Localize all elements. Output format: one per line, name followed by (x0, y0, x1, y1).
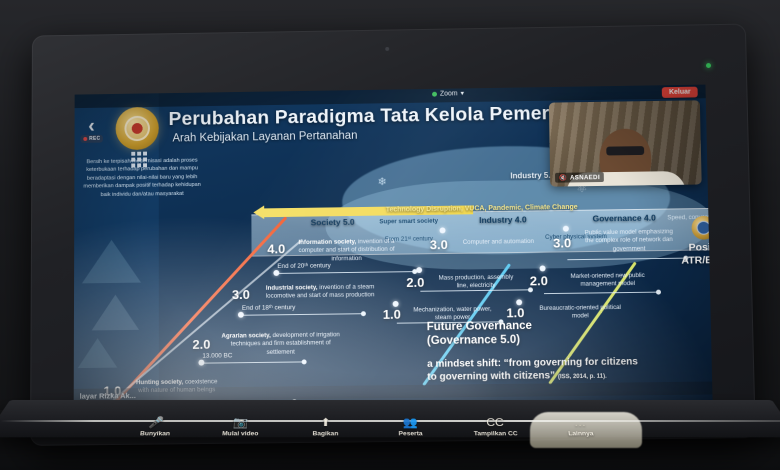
governance-tick-2 (544, 292, 658, 294)
zoom-status-icon (432, 91, 437, 96)
future-governance-body: a mindset shift: “from governing for cit… (427, 355, 678, 384)
participant-name-badge: 🔇 ASNAEDI (555, 172, 604, 183)
participant-glasses (606, 146, 644, 155)
laptop-screen: ‹ REC Perubahan Paradigma Tata Kelola Pe… (74, 85, 713, 418)
industry-value-3: 3.0 (430, 237, 448, 252)
industry5-label: Industry 5.0 (510, 171, 555, 180)
more-options-icon: … (540, 415, 620, 429)
future-governance-citation: (ISS, 2014, p. 11). (558, 373, 607, 380)
industry40-label: Industry 4.0 (479, 214, 527, 224)
posisi-line2: ATR/BPN (669, 254, 713, 268)
toolbar-label-video: Mulai video (201, 431, 280, 438)
leave-meeting-button[interactable]: Keluar (662, 87, 698, 98)
toolbar-label-share: Bagikan (286, 431, 365, 438)
future-governance-body-1: a mindset shift: “from governing for cit… (427, 356, 638, 369)
governance-node-2 (540, 265, 546, 271)
future-governance-body-2: to governing with citizens” (427, 370, 555, 382)
society-node-2 (198, 360, 204, 366)
closed-caption-icon: CC (456, 415, 535, 429)
zoom-label: Zoom (440, 90, 458, 97)
toolbar-label-captions: Tampilkan CC (456, 431, 535, 438)
industry-desc-3: Computer and automation (462, 238, 536, 247)
recording-label: REC (89, 136, 100, 142)
recording-badge: REC (80, 135, 103, 143)
industry-desc-2: Mass production, assembly line, electric… (436, 274, 516, 292)
industry-node-1 (393, 301, 399, 307)
industry-tick-2 (420, 289, 530, 291)
decor-triangle (92, 294, 139, 330)
webcam-dot-icon (385, 47, 389, 51)
microphone-muted-icon: 🎤 (116, 415, 196, 429)
laptop: ‹ REC Perubahan Paradigma Tata Kelola Pe… (30, 24, 756, 446)
society-desc-4: Information society, invention of a comp… (297, 238, 396, 264)
society-node-3 (238, 312, 244, 318)
society-title-1: Hunting society, (136, 379, 183, 386)
society-tick-3 (240, 313, 363, 316)
toolbar-button-share[interactable]: ⬆ Bagikan (286, 415, 365, 437)
society-era-3: End of 18ᵗʰ century (242, 304, 295, 312)
toolbar-button-mute[interactable]: 🎤 Bunyikan (115, 415, 196, 437)
society-title-4: Information society, (298, 238, 356, 246)
society-tick-4 (275, 271, 414, 274)
slide-intro-paragraph: Bersih ke terpisah/modernisasi adalah pr… (80, 157, 204, 200)
participant-video-tile[interactable]: 🔇 ASNAEDI (549, 100, 702, 186)
toolbar-label-more: Lainnya (541, 431, 620, 438)
governance-node-3 (563, 226, 569, 232)
toolbar-button-more[interactable]: … Lainnya (540, 415, 621, 437)
governance-value-2: 2.0 (530, 273, 548, 288)
snowflake-icon: ❄ (378, 175, 387, 188)
zoom-menu[interactable]: Zoom ▾ (432, 89, 464, 97)
governance-value-3: 3.0 (553, 236, 571, 251)
society-value-4: 4.0 (267, 241, 285, 256)
industry-node-2 (416, 267, 422, 273)
toolbar-button-video[interactable]: 📷 Mulai video (201, 415, 281, 437)
photo-scene: ‹ REC Perubahan Paradigma Tata Kelola Pe… (0, 0, 780, 470)
zoom-meeting-toolbar[interactable]: 🎤 Bunyikan 📷 Mulai video ⬆ Bagikan 👥 Pes… (113, 415, 622, 452)
industry-node-3 (440, 227, 446, 233)
society5-caption: Super smart society (366, 218, 451, 227)
future-governance-block: Future Governance (Governance 5.0) a min… (427, 317, 678, 383)
society-tick-2 (200, 361, 303, 363)
society-era-4: End of 20ᵗʰ century (277, 262, 330, 270)
participants-icon: 👥 (371, 415, 450, 429)
chevron-down-icon: ▾ (461, 89, 465, 97)
toolbar-button-participants[interactable]: 👥 Peserta (371, 415, 450, 437)
governance-node-1 (516, 299, 522, 305)
society-desc-2: Agrarian society, development of irrigat… (220, 331, 341, 357)
industry-value-2: 2.0 (406, 275, 424, 290)
participant-name-label: ASNAEDI (570, 174, 600, 181)
camera-icon: 📷 (201, 415, 280, 429)
decor-triangle (82, 239, 141, 283)
society-title-3: Industrial society, (266, 284, 318, 292)
society-title-2: Agrarian society, (222, 332, 271, 340)
toolbar-button-captions[interactable]: CC Tampilkan CC (456, 415, 536, 437)
society-desc-3: Industrial society, invention of a steam… (262, 283, 379, 301)
mic-muted-icon: 🔇 (559, 174, 567, 182)
society5-label: Society 5.0 (311, 217, 355, 227)
share-screen-icon: ⬆ (286, 415, 365, 429)
power-indicator-icon (706, 63, 711, 68)
society-node-4 (273, 270, 279, 276)
governance-desc-3: Public value model emphasizing the compl… (583, 228, 675, 254)
toolbar-label-mute: Bunyikan (115, 431, 194, 438)
society-value-2: 2.0 (192, 337, 210, 352)
governance-value-1: 1.0 (506, 305, 524, 320)
slide-subtitle: Arah Kebijakan Layanan Pertanahan (172, 130, 357, 144)
posisi-block: Posisi ATR/BPN (668, 215, 712, 268)
society-value-3: 3.0 (232, 287, 250, 302)
society-era-2: 13.000 BC (202, 352, 232, 359)
decor-triangle (78, 338, 118, 368)
governance40-label: Governance 4.0 (593, 213, 656, 224)
record-dot-icon (83, 137, 87, 141)
governance-desc-2: Market-oriented new public management mo… (560, 272, 656, 290)
industry-value-1: 1.0 (383, 307, 401, 322)
posisi-line1: Posisi (669, 241, 713, 255)
toolbar-label-participants: Peserta (371, 431, 450, 438)
future-governance-heading-2: (Governance 5.0) (427, 331, 677, 348)
